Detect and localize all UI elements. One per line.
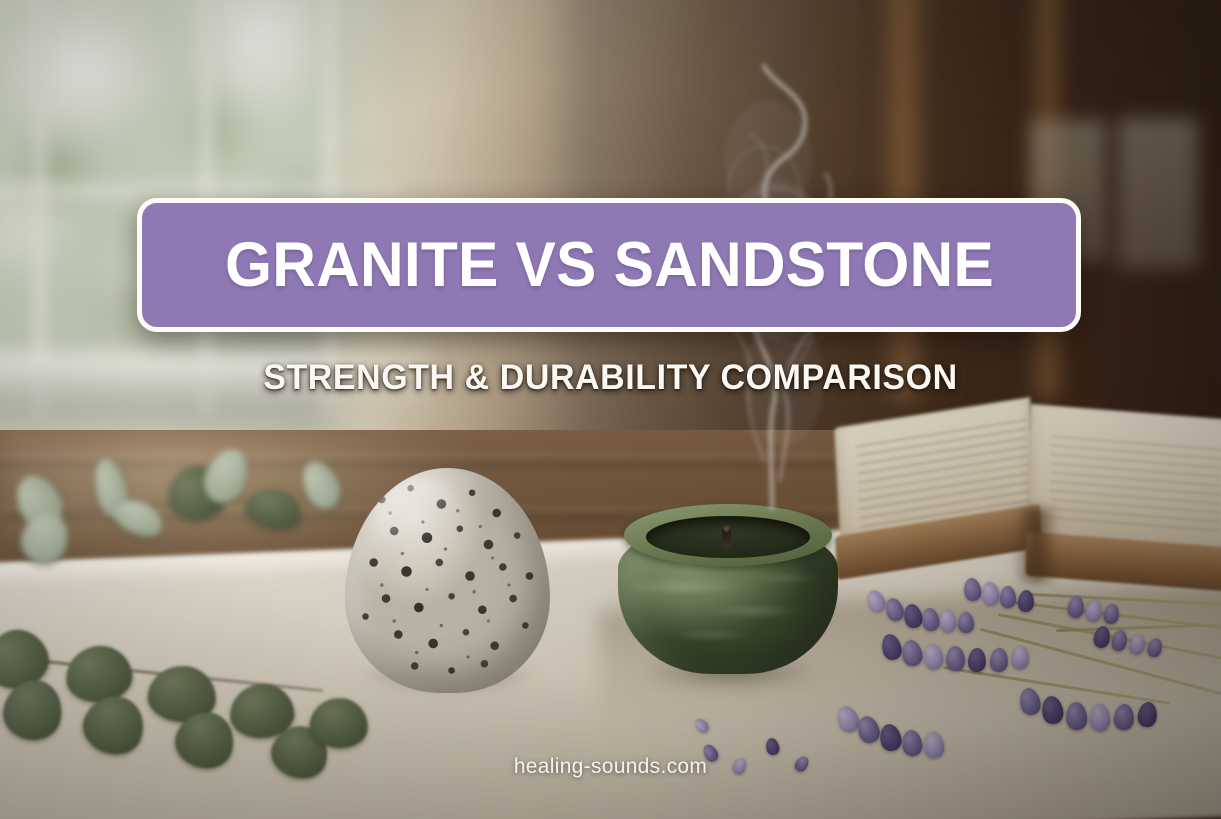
book-page-right [1026, 404, 1221, 570]
incense-bowl [612, 498, 844, 688]
book-spine [1014, 508, 1058, 582]
eucalyptus-sprig-front [0, 580, 400, 780]
poster-canvas: GRANITE VS SANDSTONE STRENGTH & DURABILI… [0, 0, 1221, 819]
book-page-edge [835, 504, 1042, 580]
table-plank-seam [0, 700, 1221, 718]
granite-egg-body [345, 468, 550, 693]
book-text-lines [1049, 435, 1221, 534]
title-banner: GRANITE VS SANDSTONE [137, 198, 1081, 332]
granite-egg-highlight [374, 477, 460, 554]
table-plank-seam [0, 782, 1221, 798]
incense-bowl-rim [624, 504, 832, 566]
book-page-left [834, 397, 1038, 577]
linen-shadow [598, 583, 1221, 730]
book-text-lines [856, 419, 1030, 535]
granite-speckle-fine [345, 468, 550, 693]
granite-egg [345, 468, 550, 693]
granite-speckle-texture [345, 468, 550, 693]
incense-ember [723, 525, 730, 532]
incense-bowl-shadow [600, 650, 860, 694]
eucalyptus-sprig-back [0, 440, 420, 560]
incense-stick [722, 528, 731, 548]
vignette [0, 0, 1221, 819]
soapstone-veining [618, 524, 838, 674]
site-watermark: healing-sounds.com [0, 755, 1221, 779]
background-scene [0, 0, 1221, 819]
shelf-book [1118, 118, 1198, 268]
table-plank-seam [0, 452, 1221, 468]
book-page-edge [1025, 532, 1221, 593]
incense-bowl-body [618, 524, 838, 674]
color-grade [0, 0, 1221, 819]
linen-runner-edge [0, 514, 1221, 591]
table-sunlight [0, 430, 640, 680]
window-mullion-vertical [30, 0, 50, 410]
table-plank-seam [0, 506, 1221, 520]
page-subtitle: STRENGTH & DURABILITY COMPARISON [18, 358, 1202, 398]
open-book [838, 398, 1221, 598]
incense-bowl-interior [646, 516, 810, 558]
page-title: GRANITE VS SANDSTONE [225, 234, 994, 297]
granite-egg-shadow [323, 650, 573, 698]
